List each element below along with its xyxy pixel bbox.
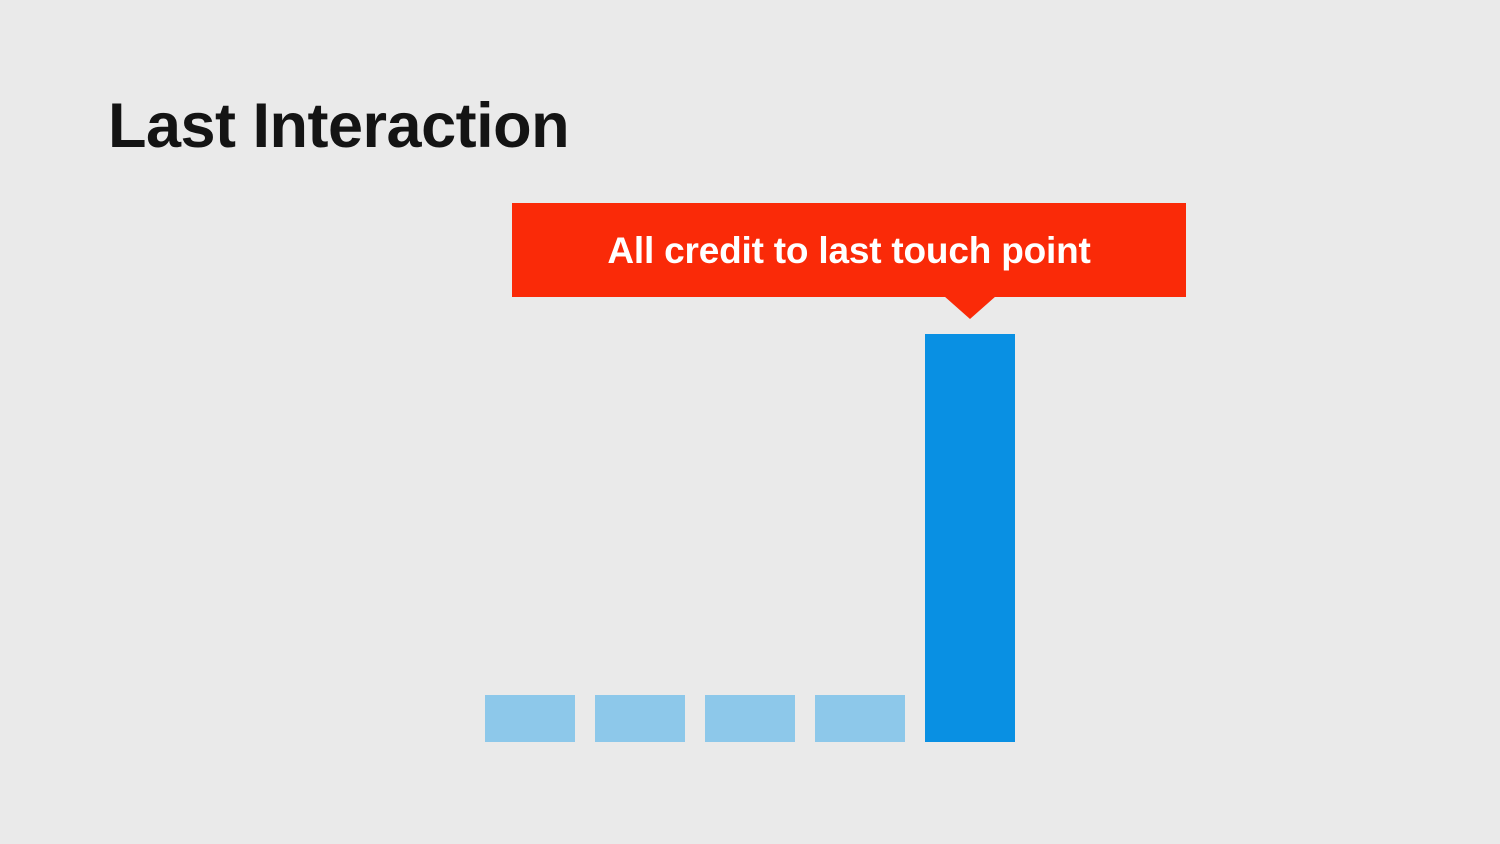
bar-touchpoint-4 [815, 695, 905, 742]
bar-touchpoint-1 [485, 695, 575, 742]
callout-pointer-arrow [944, 296, 996, 319]
slide-canvas: Last Interaction All credit to last touc… [0, 0, 1500, 844]
attribution-bar-chart [0, 0, 1500, 844]
callout-banner: All credit to last touch point [512, 203, 1186, 297]
bar-touchpoint-5 [925, 334, 1015, 742]
bar-touchpoint-2 [595, 695, 685, 742]
callout-label: All credit to last touch point [607, 232, 1090, 269]
bar-touchpoint-3 [705, 695, 795, 742]
